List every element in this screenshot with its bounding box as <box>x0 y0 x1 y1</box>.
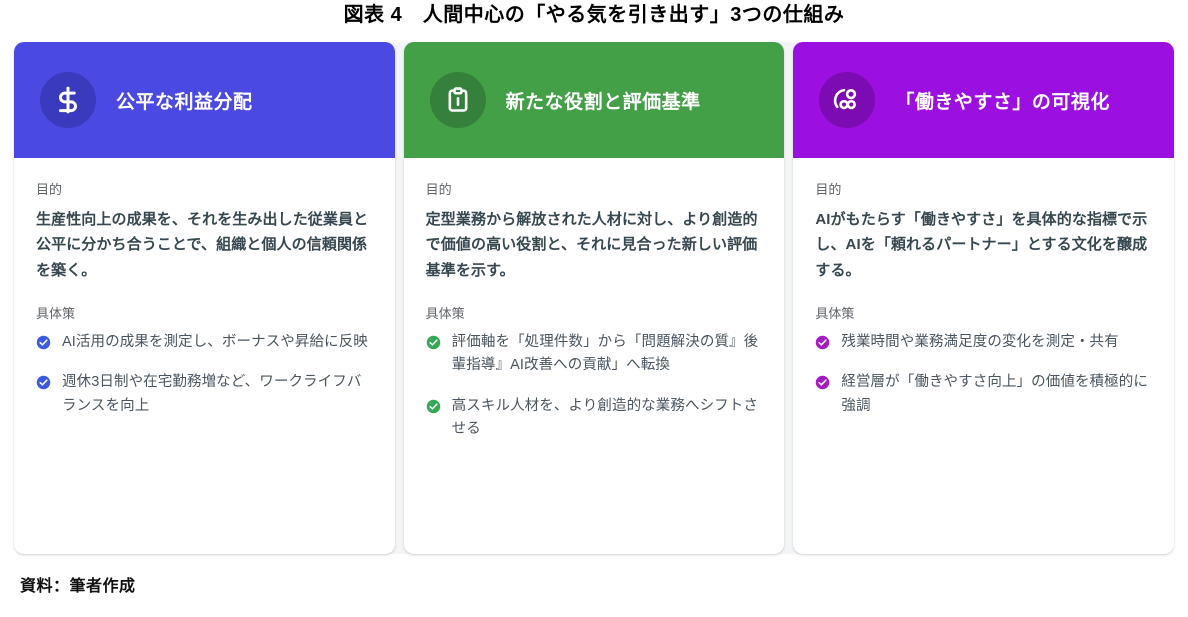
list-item: AI活用の成果を測定し、ボーナスや昇給に反映 <box>36 331 373 354</box>
list-item: 評価軸を「処理件数」から「問題解決の質』後輩指導』AI改善への貢献」へ転換 <box>426 331 763 378</box>
card-fair-profit-sharing[interactable]: 公平な利益分配 目的 生産性向上の成果を、それを生み出した従業員と公平に分かち合… <box>14 42 395 554</box>
card-header: 「働きやすさ」の可視化 <box>793 42 1174 158</box>
card-new-roles-and-evaluation[interactable]: 新たな役割と評価基準 目的 定型業務から解放された人材に対し、より創造的で価値の… <box>404 42 785 554</box>
clipboard-icon <box>430 72 486 128</box>
measures-list: 残業時間や業務満足度の変化を測定・共有 経営層が「働きやすさ向上」の価値を積極的… <box>815 331 1152 418</box>
purpose-text: 定型業務から解放された人材に対し、より創造的で価値の高い役割と、それに見合った新… <box>426 207 763 284</box>
measure-text: 評価軸を「処理件数」から「問題解決の質』後輩指導』AI改善への貢献」へ転換 <box>452 331 763 378</box>
check-circle-icon <box>426 399 441 414</box>
cards-row: 公平な利益分配 目的 生産性向上の成果を、それを生み出した従業員と公平に分かち合… <box>14 42 1174 554</box>
card-body: 目的 定型業務から解放された人材に対し、より創造的で価値の高い役割と、それに見合… <box>404 158 785 554</box>
measure-text: 残業時間や業務満足度の変化を測定・共有 <box>841 331 1118 354</box>
measures-label: 具体策 <box>426 306 763 322</box>
purpose-label: 目的 <box>426 182 763 198</box>
figure-container: 図表 4 人間中心の「やる気を引き出す」3つの仕組み 公平な利益分配 目的 生産… <box>0 0 1188 617</box>
list-item: 経営層が「働きやすさ向上」の価値を積極的に強調 <box>815 371 1152 418</box>
measure-text: AI活用の成果を測定し、ボーナスや昇給に反映 <box>62 331 368 354</box>
measures-label: 具体策 <box>36 306 373 322</box>
source-note: 資料：筆者作成 <box>20 572 136 596</box>
purpose-label: 目的 <box>815 182 1152 198</box>
check-circle-icon <box>36 375 51 390</box>
gauge-icon <box>819 72 875 128</box>
card-title: 新たな役割と評価基準 <box>506 87 701 114</box>
check-circle-icon <box>426 335 441 350</box>
measures-list: AI活用の成果を測定し、ボーナスや昇給に反映 週休3日制や在宅勤務増など、ワーク… <box>36 331 373 418</box>
card-body: 目的 AIがもたらす「働きやすさ」を具体的な指標で示し、AIを「頼れるパートナー… <box>793 158 1174 554</box>
list-item: 残業時間や業務満足度の変化を測定・共有 <box>815 331 1152 354</box>
measure-text: 高スキル人材を、より創造的な業務へシフトさせる <box>452 395 763 442</box>
dollar-sign-icon <box>40 72 96 128</box>
purpose-text: AIがもたらす「働きやすさ」を具体的な指標で示し、AIを「頼れるパートナー」とす… <box>815 207 1152 284</box>
purpose-label: 目的 <box>36 182 373 198</box>
card-body: 目的 生産性向上の成果を、それを生み出した従業員と公平に分かち合うことで、組織と… <box>14 158 395 554</box>
list-item: 高スキル人材を、より創造的な業務へシフトさせる <box>426 395 763 442</box>
card-header: 新たな役割と評価基準 <box>404 42 785 158</box>
check-circle-icon <box>815 335 830 350</box>
card-title: 公平な利益分配 <box>116 87 253 114</box>
check-circle-icon <box>815 375 830 390</box>
measure-text: 経営層が「働きやすさ向上」の価値を積極的に強調 <box>841 371 1152 418</box>
card-title: 「働きやすさ」の可視化 <box>895 87 1110 114</box>
list-item: 週休3日制や在宅勤務増など、ワークライフバランスを向上 <box>36 371 373 418</box>
measures-label: 具体策 <box>815 306 1152 322</box>
figure-title: 図表 4 人間中心の「やる気を引き出す」3つの仕組み <box>0 0 1188 34</box>
measures-list: 評価軸を「処理件数」から「問題解決の質』後輩指導』AI改善への貢献」へ転換 高ス… <box>426 331 763 442</box>
measure-text: 週休3日制や在宅勤務増など、ワークライフバランスを向上 <box>62 371 373 418</box>
card-visualize-work-comfort[interactable]: 「働きやすさ」の可視化 目的 AIがもたらす「働きやすさ」を具体的な指標で示し、… <box>793 42 1174 554</box>
card-header: 公平な利益分配 <box>14 42 395 158</box>
check-circle-icon <box>36 335 51 350</box>
purpose-text: 生産性向上の成果を、それを生み出した従業員と公平に分かち合うことで、組織と個人の… <box>36 207 373 284</box>
